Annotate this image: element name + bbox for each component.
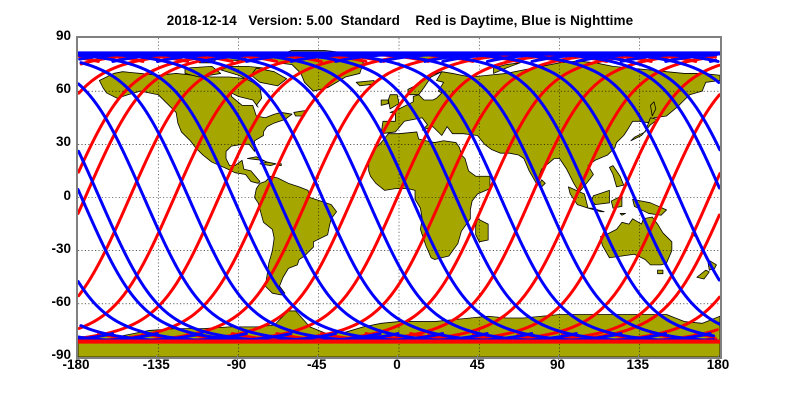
ground-track-map: 2018-12-14 Version: 5.00 Standard Red is… bbox=[0, 0, 800, 400]
x-axis-tick-mark bbox=[558, 355, 559, 360]
x-axis-tick-mark bbox=[718, 355, 719, 360]
x-axis-tick-mark bbox=[237, 355, 238, 360]
x-axis-tick-mark bbox=[397, 355, 398, 360]
x-axis-ticks: -180-135-90-4504590135180 bbox=[0, 0, 800, 400]
x-axis-tick-mark bbox=[156, 355, 157, 360]
x-axis-tick-mark bbox=[76, 355, 77, 360]
x-axis-tick-mark bbox=[317, 355, 318, 360]
x-axis-tick-mark bbox=[477, 355, 478, 360]
x-axis-tick-mark bbox=[638, 355, 639, 360]
